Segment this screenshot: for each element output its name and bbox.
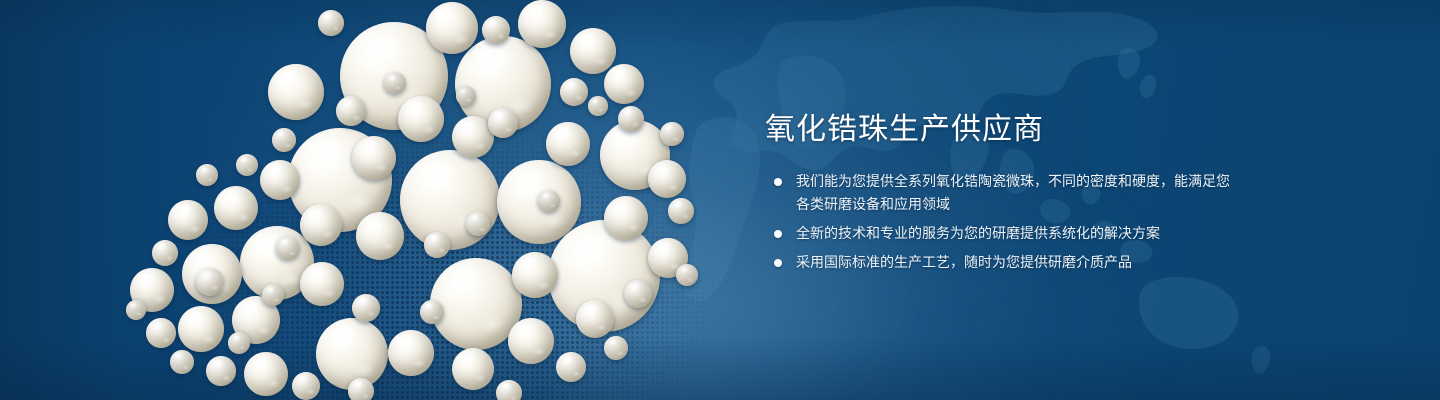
list-item: 我们能为您提供全系列氧化锆陶瓷微珠，不同的密度和硬度，能满足您各类研磨设备和应用… [765, 170, 1235, 216]
list-item: 采用国际标准的生产工艺，随时为您提供研磨介质产品 [765, 251, 1235, 274]
list-item-text: 我们能为您提供全系列氧化锆陶瓷微珠，不同的密度和硬度，能满足您各类研磨设备和应用… [796, 173, 1230, 212]
list-item-text: 全新的技术和专业的服务为您的研磨提供系统化的解决方案 [796, 225, 1160, 241]
bullet-dot-icon [774, 259, 782, 267]
list-item: 全新的技术和专业的服务为您的研磨提供系统化的解决方案 [765, 222, 1235, 245]
list-item-text: 采用国际标准的生产工艺，随时为您提供研磨介质产品 [796, 254, 1132, 270]
feature-list: 我们能为您提供全系列氧化锆陶瓷微珠，不同的密度和硬度，能满足您各类研磨设备和应用… [765, 170, 1235, 280]
page-title: 氧化锆珠生产供应商 [765, 110, 1044, 150]
bullet-dot-icon [774, 230, 782, 238]
bullet-dot-icon [774, 178, 782, 186]
hero-banner: 氧化锆珠生产供应商 我们能为您提供全系列氧化锆陶瓷微珠，不同的密度和硬度，能满足… [0, 0, 1440, 400]
zirconia-bead-cluster-image [0, 0, 760, 400]
banner-text-block: 氧化锆珠生产供应商 我们能为您提供全系列氧化锆陶瓷微珠，不同的密度和硬度，能满足… [765, 0, 1365, 400]
